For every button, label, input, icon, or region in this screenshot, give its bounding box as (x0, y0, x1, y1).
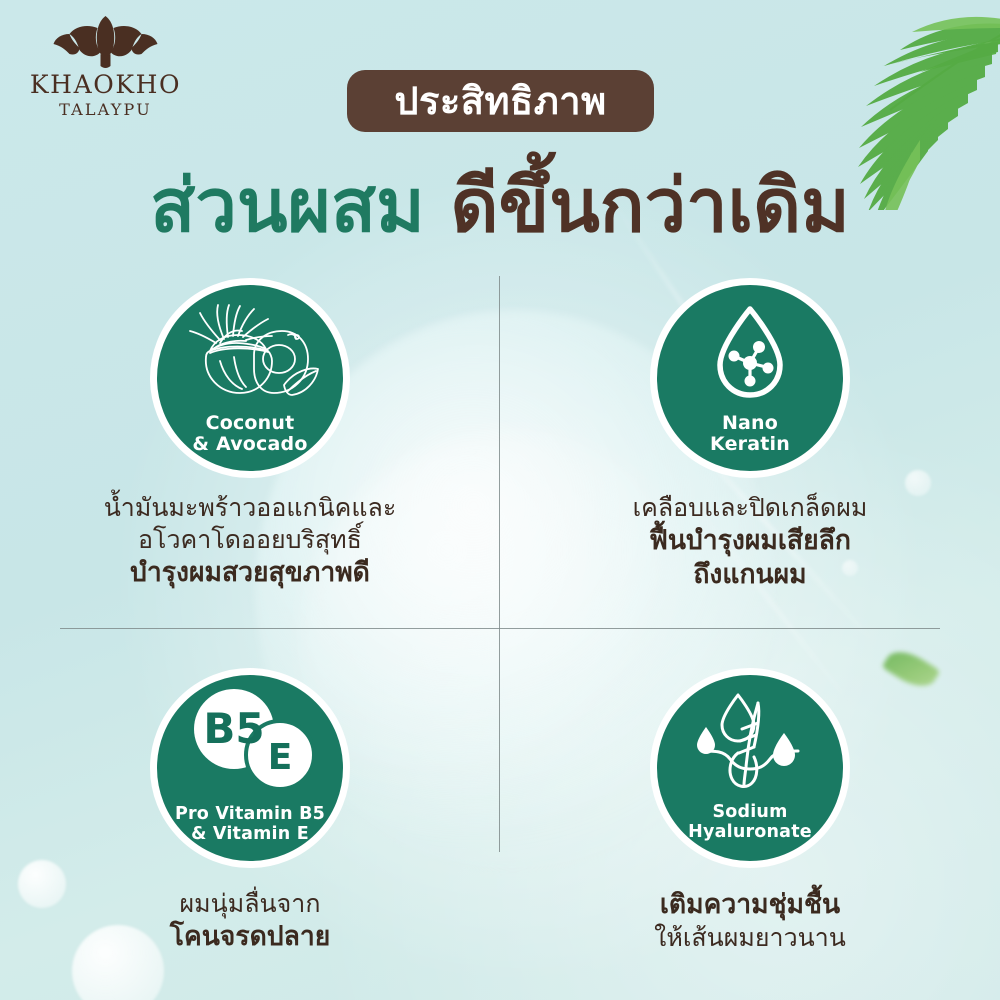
caption-line: ฟื้นบำรุงผมเสียลึก (500, 524, 1000, 558)
droplet-molecule-icon (680, 299, 820, 411)
feature-caption: น้ำมันมะพร้าวออแกนิคและ อโวคาโดออยบริสุท… (0, 492, 500, 590)
badge-label-line: Keratin (710, 433, 790, 455)
badge-label-line: Coconut (206, 412, 295, 434)
caption-line: เคลือบและปิดเกล็ดผม (500, 492, 1000, 524)
badge-label-line: Hyaluronate (688, 822, 812, 842)
badge-label-line: Nano (722, 412, 778, 434)
feature-provitamin-b5-vitamin-e: B5 E Pro Vitamin B5 & Vitamin E ผมนุ่มลื… (0, 668, 500, 954)
feature-coconut-avocado: Coconut & Avocado น้ำมันมะพร้าวออแกนิคแล… (0, 278, 500, 590)
brand-subname: TALAYPU (18, 102, 193, 118)
page-title-brown: ดีขึ้นกว่าเดิม (451, 163, 850, 249)
divider-horizontal (60, 628, 940, 629)
caption-line: เติมความชุ่มชื้น (500, 888, 1000, 922)
feature-nano-keratin: Nano Keratin เคลือบและปิดเกล็ดผม ฟื้นบำร… (500, 278, 1000, 592)
brand-logo: KHAOKHO TALAYPU (18, 12, 193, 118)
lotus-flower-icon (18, 12, 193, 70)
caption-line: ถึงแกนผม (500, 558, 1000, 592)
feature-badge-label: Coconut & Avocado (192, 413, 307, 456)
feature-badge: Nano Keratin (650, 278, 850, 478)
b5-e-bubbles-icon: B5 E (180, 683, 320, 803)
caption-line: บำรุงผมสวยสุขภาพดี (0, 556, 500, 590)
feature-badge-label: Pro Vitamin B5 & Vitamin E (175, 805, 325, 844)
feature-sodium-hyaluronate: Sodium Hyaluronate เติมความชุ่มชื้น ให้เ… (500, 668, 1000, 954)
section-badge: ประสิทธิภาพ (347, 70, 654, 132)
caption-line: ผมนุ่มลื่นจาก (0, 888, 500, 920)
feature-caption: ผมนุ่มลื่นจาก โคนจรดปลาย (0, 888, 500, 954)
badge-label-line: Sodium (712, 802, 787, 822)
page-title-green: ส่วนผสม (150, 163, 450, 249)
svg-text:E: E (268, 737, 293, 778)
page-title: ส่วนผสม ดีขึ้นกว่าเดิม (0, 168, 1000, 246)
feature-badge-label: Sodium Hyaluronate (688, 803, 812, 842)
feature-badge-label: Nano Keratin (710, 413, 790, 456)
badge-label-line: & Avocado (192, 433, 307, 455)
section-badge-label: ประสิทธิภาพ (394, 82, 606, 120)
caption-line: น้ำมันมะพร้าวออแกนิคและ (0, 492, 500, 524)
feature-badge: Coconut & Avocado (150, 278, 350, 478)
brand-name: KHAOKHO (18, 72, 193, 97)
feature-badge: Sodium Hyaluronate (650, 668, 850, 868)
feature-badge: B5 E Pro Vitamin B5 & Vitamin E (150, 668, 350, 868)
svg-text:B5: B5 (203, 704, 264, 753)
feature-caption: เติมความชุ่มชื้น ให้เส้นผมยาวนาน (500, 888, 1000, 954)
badge-label-line: Pro Vitamin B5 (175, 804, 325, 824)
poster-canvas: KHAOKHO TALAYPU ประสิทธิภาพ ส่วนผสม ดีขึ… (0, 0, 1000, 1000)
caption-line: โคนจรดปลาย (0, 920, 500, 954)
badge-label-line: & Vitamin E (191, 824, 309, 844)
caption-line: ให้เส้นผมยาวนาน (500, 922, 1000, 954)
hair-follicle-droplets-icon (680, 689, 820, 801)
coconut-avocado-icon (180, 299, 320, 411)
caption-line: อโวคาโดออยบริสุทธิ์ (0, 524, 500, 556)
feature-caption: เคลือบและปิดเกล็ดผม ฟื้นบำรุงผมเสียลึก ถ… (500, 492, 1000, 592)
